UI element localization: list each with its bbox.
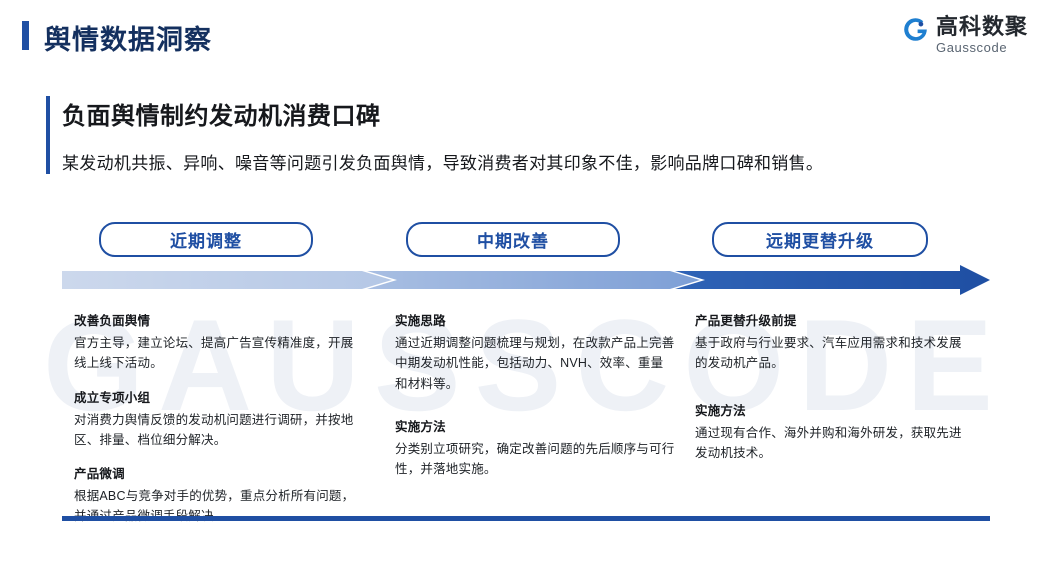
main-title: 负面舆情制约发动机消费口碑	[62, 96, 823, 131]
phase-pill-near-term[interactable]: 近期调整	[99, 222, 313, 257]
logo-text-en: Gausscode	[936, 40, 1028, 56]
item-heading: 实施思路	[395, 310, 675, 329]
item-heading: 成立专项小组	[74, 387, 364, 406]
item-heading: 产品更替升级前提	[695, 310, 970, 329]
list-item: 改善负面舆情 官方主导，建立论坛、提高广告宣传精准度，开展线上线下活动。	[74, 310, 364, 374]
header-accent-bar	[22, 21, 29, 50]
item-heading: 实施方法	[395, 416, 675, 435]
item-body: 基于政府与行业要求、汽车应用需求和技术发展的发动机产品。	[695, 333, 970, 374]
timeline-arrow-graphic	[62, 265, 990, 295]
page-title: 舆情数据洞察	[44, 18, 212, 57]
phase-pill-long-term[interactable]: 远期更替升级	[712, 222, 928, 257]
title-accent-bar	[46, 96, 50, 174]
brand-logo: 高科数聚 Gausscode	[902, 14, 1028, 56]
list-item: 成立专项小组 对消费力舆情反馈的发动机问题进行调研，并按地区、排量、档位细分解决…	[74, 387, 364, 451]
list-item: 实施方法 分类别立项研究，确定改善问题的先后顺序与可行性，并落地实施。	[395, 416, 675, 480]
page-header: 舆情数据洞察 高科数聚 Gausscode	[0, 0, 1050, 70]
item-heading: 改善负面舆情	[74, 310, 364, 329]
item-body: 官方主导，建立论坛、提高广告宣传精准度，开展线上线下活动。	[74, 333, 364, 374]
timeline-arrow	[62, 265, 990, 295]
title-block: 负面舆情制约发动机消费口碑 某发动机共振、异响、噪音等问题引发负面舆情，导致消费…	[62, 96, 823, 174]
logo-text-cn: 高科数聚	[936, 14, 1028, 39]
phase-pill-mid-term[interactable]: 中期改善	[406, 222, 620, 257]
g-mark-icon	[902, 16, 929, 43]
list-item: 产品更替升级前提 基于政府与行业要求、汽车应用需求和技术发展的发动机产品。	[695, 310, 970, 374]
sub-title: 某发动机共振、异响、噪音等问题引发负面舆情，导致消费者对其印象不佳，影响品牌口碑…	[62, 149, 823, 174]
list-item: 实施思路 通过近期调整问题梳理与规划，在改款产品上完善中期发动机性能，包括动力、…	[395, 310, 675, 394]
footer-bar	[62, 516, 990, 521]
column-long-term: 产品更替升级前提 基于政府与行业要求、汽车应用需求和技术发展的发动机产品。 实施…	[695, 310, 970, 476]
item-body: 通过近期调整问题梳理与规划，在改款产品上完善中期发动机性能，包括动力、NVH、效…	[395, 333, 675, 394]
list-item: 实施方法 通过现有合作、海外并购和海外研发，获取先进发动机技术。	[695, 400, 970, 464]
item-heading: 实施方法	[695, 400, 970, 419]
item-body: 分类别立项研究，确定改善问题的先后顺序与可行性，并落地实施。	[395, 439, 675, 480]
column-near-term: 改善负面舆情 官方主导，建立论坛、提高广告宣传精准度，开展线上线下活动。 成立专…	[74, 310, 364, 540]
item-body: 通过现有合作、海外并购和海外研发，获取先进发动机技术。	[695, 423, 970, 464]
item-heading: 产品微调	[74, 463, 364, 482]
item-body: 对消费力舆情反馈的发动机问题进行调研，并按地区、排量、档位细分解决。	[74, 410, 364, 451]
column-mid-term: 实施思路 通过近期调整问题梳理与规划，在改款产品上完善中期发动机性能，包括动力、…	[395, 310, 675, 492]
